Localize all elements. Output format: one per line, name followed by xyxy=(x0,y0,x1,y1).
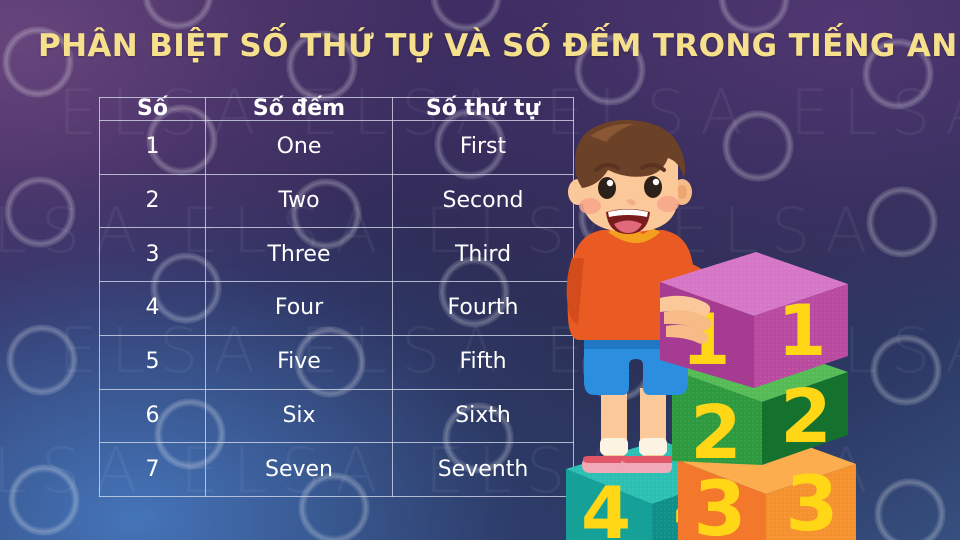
table-row: 6 Six Sixth xyxy=(100,389,574,443)
page-title: PHÂN BIỆT SỐ THỨ TỰ VÀ SỐ ĐẾM TRONG TIẾN… xyxy=(38,30,928,63)
cell-cardinal: Six xyxy=(206,389,393,443)
column-header-number: Số xyxy=(100,98,206,121)
cell-number: 2 xyxy=(100,174,206,228)
cell-ordinal: Seventh xyxy=(393,443,574,497)
table-header-row: Số Số đếm Số thứ tự xyxy=(100,98,574,121)
cell-ordinal: Sixth xyxy=(393,389,574,443)
table-head: Số Số đếm Số thứ tự xyxy=(100,98,574,121)
number-comparison-table: Số Số đếm Số thứ tự 1 One First 2 Two Se… xyxy=(99,97,573,497)
cell-ordinal: Fifth xyxy=(393,335,574,389)
cell-ordinal: Fourth xyxy=(393,282,574,336)
cell-number: 3 xyxy=(100,228,206,282)
cell-cardinal: Two xyxy=(206,174,393,228)
cell-ordinal: First xyxy=(393,121,574,175)
cell-number: 5 xyxy=(100,335,206,389)
svg-text:2: 2 xyxy=(690,390,742,476)
cell-cardinal: One xyxy=(206,121,393,175)
boy-shoes xyxy=(582,456,672,473)
cell-number: 6 xyxy=(100,389,206,443)
boy-head xyxy=(568,120,692,234)
cell-cardinal: Four xyxy=(206,282,393,336)
cell-ordinal: Second xyxy=(393,174,574,228)
svg-text:2: 2 xyxy=(780,374,832,460)
cell-cardinal: Five xyxy=(206,335,393,389)
svg-text:4: 4 xyxy=(581,471,631,540)
boy-fingers-overlay xyxy=(660,296,711,344)
table-body: 1 One First 2 Two Second 3 Three Third 4… xyxy=(100,121,574,497)
table-row: 7 Seven Seventh xyxy=(100,443,574,497)
cell-number: 4 xyxy=(100,282,206,336)
cell-ordinal: Third xyxy=(393,228,574,282)
column-header-cardinal: Số đếm xyxy=(206,98,393,121)
table-row: 2 Two Second xyxy=(100,174,574,228)
cell-cardinal: Three xyxy=(206,228,393,282)
table-row: 1 One First xyxy=(100,121,574,175)
table-row: 4 Four Fourth xyxy=(100,282,574,336)
column-header-ordinal: Số thứ tự xyxy=(393,98,574,121)
table-row: 5 Five Fifth xyxy=(100,335,574,389)
cell-number: 7 xyxy=(100,443,206,497)
cell-number: 1 xyxy=(100,121,206,175)
svg-text:1: 1 xyxy=(778,290,827,372)
table: Số Số đếm Số thứ tự 1 One First 2 Two Se… xyxy=(99,97,574,497)
boy-with-blocks-illustration: 4 4 3 3 2 2 xyxy=(556,120,960,540)
svg-text:3: 3 xyxy=(786,459,839,540)
cell-cardinal: Seven xyxy=(206,443,393,497)
slide-root: ELSA ELSA ELSA ELSA ELSA ELSA ELSA ELSA … xyxy=(0,0,960,540)
table-row: 3 Three Third xyxy=(100,228,574,282)
